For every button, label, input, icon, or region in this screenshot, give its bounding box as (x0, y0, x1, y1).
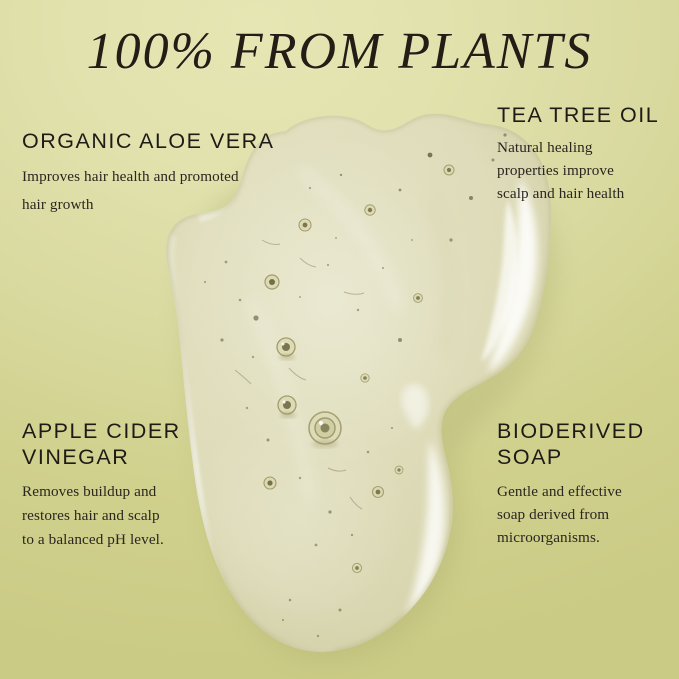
ingredient-heading-aloe: ORGANIC ALOE VERA (22, 128, 312, 154)
product-ingredients-poster: 100% FROM PLANTS ORGANIC ALOE VERA Impro… (0, 0, 679, 679)
ingredient-organic-aloe-vera: ORGANIC ALOE VERA Improves hair health a… (22, 128, 312, 219)
poster-title: 100% FROM PLANTS (0, 22, 679, 81)
ingredient-body-apple-cider-vinegar: Removes buildup and restores hair and sc… (22, 480, 252, 552)
ingredient-heading-tea-tree: TEA TREE OIL (497, 102, 669, 128)
ingredient-apple-cider-vinegar: APPLE CIDER VINEGAR Removes buildup and … (22, 418, 252, 552)
ingredient-heading-bioderived-soap: BIODERIVED SOAP (497, 418, 677, 470)
ingredient-body-bioderived-soap: Gentle and effective soap derived from m… (497, 480, 677, 549)
ingredient-heading-apple-cider-vinegar: APPLE CIDER VINEGAR (22, 418, 252, 470)
ingredient-bioderived-soap: BIODERIVED SOAP Gentle and effective soa… (497, 418, 677, 549)
ingredient-body-aloe: Improves hair health and promoted hair g… (22, 163, 312, 219)
ingredient-tea-tree-oil: TEA TREE OIL Natural healing properties … (497, 102, 669, 205)
ingredient-body-tea-tree: Natural healing properties improve scalp… (497, 136, 669, 205)
